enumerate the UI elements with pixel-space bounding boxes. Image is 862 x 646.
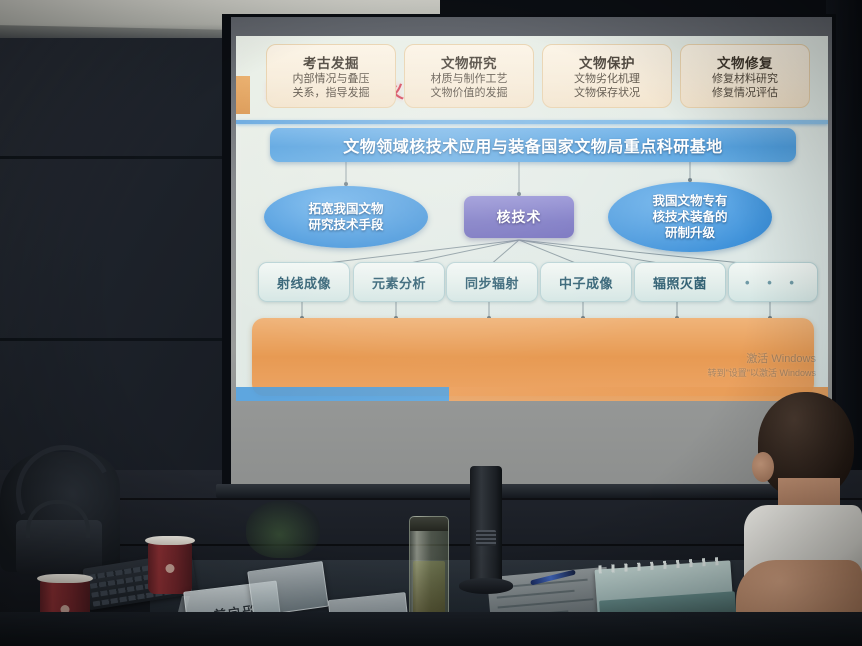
application-box-2: 文物保护 文物劣化机理 文物保存状况 [542,44,672,108]
attendee-ear [752,452,774,482]
application-box-1-sub1: 材质与制作工艺 [431,73,508,87]
left-wall-panel [0,38,245,508]
presentation-slide: 建设目的和意义 [236,36,828,401]
windows-activation-watermark: 激活 Windows 转到"设置"以激活 Windows [708,352,816,379]
paper-cup-far [148,542,192,594]
application-box-3-sub1: 修复材料研究 [712,73,778,87]
watermark-line1: 激活 Windows [708,352,816,367]
application-box-3: 文物修复 修复材料研究 修复情况评估 [680,44,810,108]
technology-chip-row: 射线成像 元素分析 同步辐射 中子成像 辐照灭菌 • • • [246,262,818,300]
tech-chip-0-label: 射线成像 [277,273,331,292]
application-box-2-sub1: 文物劣化机理 [574,73,640,87]
tech-chip-1: 元素分析 [353,262,445,302]
application-box-1: 文物研究 材质与制作工艺 文物价值的发掘 [404,44,534,108]
tech-chip-2: 同步辐射 [446,262,538,302]
application-box-2-sub2: 文物保存状况 [574,87,640,101]
diagram-node-core-technology: 核技术 [464,196,574,238]
microphone-base [459,578,513,594]
tech-chip-3: 中子成像 [540,262,632,302]
table-front-edge [0,612,862,646]
left-goal-line2: 研究技术手段 [308,218,383,232]
diagram-node-right-goal: 我国文物专有 核技术装备的 研制升级 [608,182,772,252]
application-box-0-sub1: 内部情况与叠压 [293,73,370,87]
title-divider-rule [236,120,828,124]
application-box-0: 考古发掘 内部情况与叠压 关系，指导发掘 [266,44,396,108]
potted-plant [246,500,320,558]
application-box-3-title: 文物修复 [717,52,773,72]
application-box-0-title: 考古发掘 [303,52,359,72]
application-box-1-sub2: 文物价值的发掘 [431,87,508,101]
slide-footer-strip [236,387,828,401]
conference-microphone[interactable] [470,466,502,584]
tech-chip-ellipsis: • • • [728,262,818,302]
diagram-root-node: 文物领域核技术应用与装备国家文物局重点科研基地 [270,128,796,162]
tech-chip-0: 射线成像 [258,262,350,302]
tech-chip-ellipsis-label: • • • [745,275,801,290]
tech-chip-3-label: 中子成像 [559,273,613,292]
application-box-3-sub2: 修复情况评估 [712,87,778,101]
application-box-0-sub2: 关系，指导发掘 [293,87,370,101]
tech-chip-2-label: 同步辐射 [465,273,519,292]
meeting-room-photo: 建设目的和意义 [0,0,862,646]
right-goal-line1: 我国文物专有 [652,194,727,208]
left-goal-line1: 拓宽我国文物 [308,202,383,216]
right-goal-line2: 核技术装备的 [652,210,727,224]
tech-chip-1-label: 元素分析 [372,273,426,292]
application-box-2-title: 文物保护 [579,52,635,72]
diagram-node-left-goal: 拓宽我国文物 研究技术手段 [264,186,428,248]
right-goal-line3: 研制升级 [665,226,715,240]
application-box-1-title: 文物研究 [441,52,497,72]
tech-chip-4: 辐照灭菌 [634,262,726,302]
title-accent-bar [236,76,250,114]
watermark-line2: 转到"设置"以激活 Windows [708,367,816,379]
tech-chip-4-label: 辐照灭菌 [653,273,707,292]
